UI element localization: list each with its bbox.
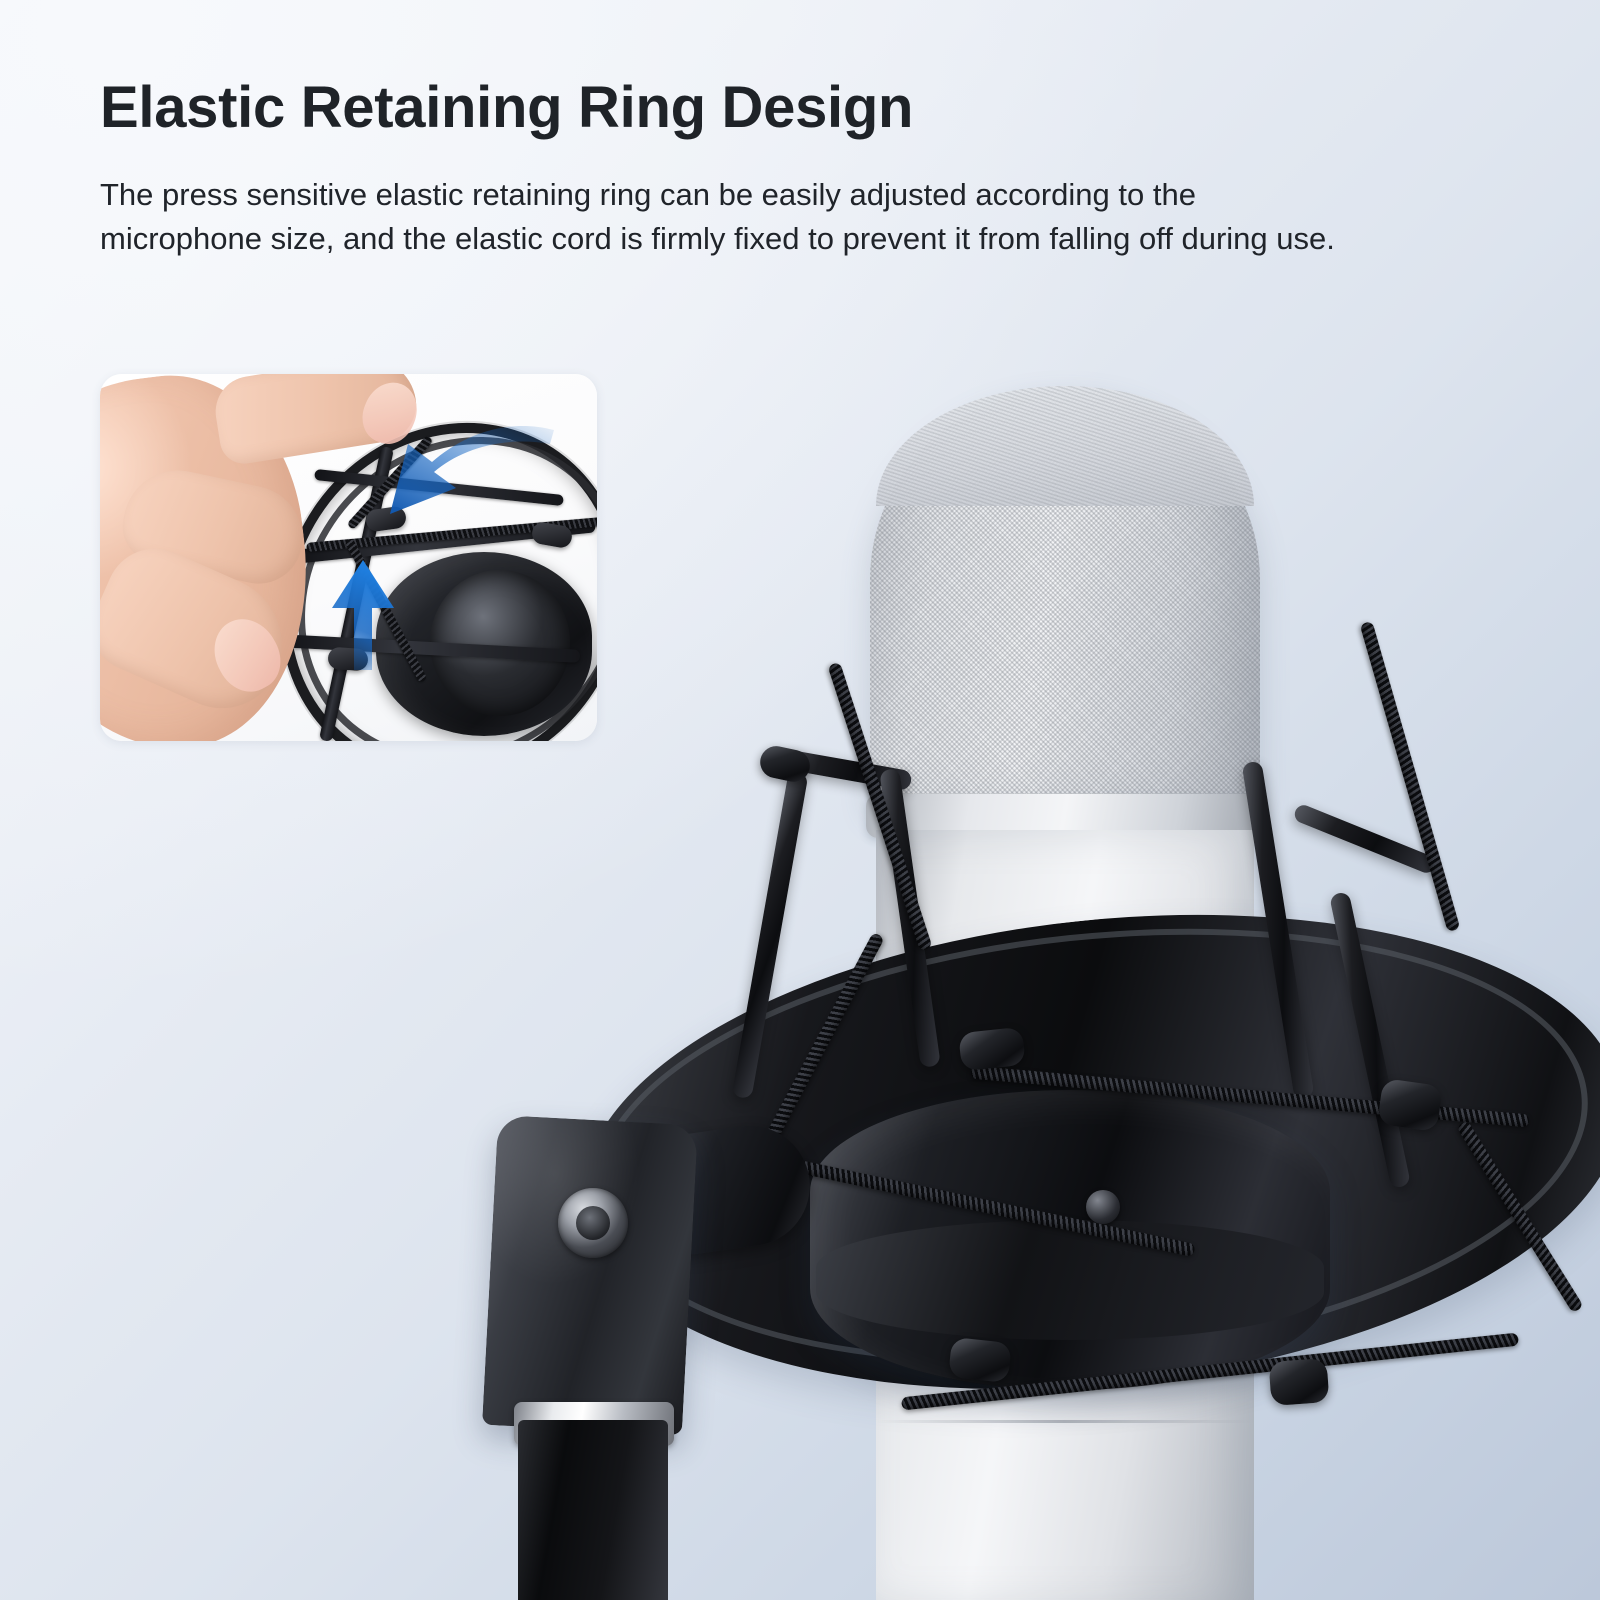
arrow-up-left-icon	[318, 550, 408, 670]
mic-stand-pole	[518, 1420, 668, 1600]
cord-clip	[1269, 1358, 1330, 1406]
mic-grille-top	[876, 386, 1254, 506]
stand-mount-block: NEEWER MSA03	[482, 1115, 698, 1435]
collar-release-button[interactable]	[1086, 1190, 1120, 1224]
copy-block: Elastic Retaining Ring Design The press …	[100, 78, 1370, 261]
elastic-cord-upper-right	[1360, 621, 1461, 932]
feature-title: Elastic Retaining Ring Design	[100, 78, 1370, 137]
cord-clip	[948, 1337, 1012, 1383]
tilt-adjust-screw-center	[576, 1206, 610, 1240]
mic-body-seam	[876, 1420, 1254, 1423]
mic-collar-band	[816, 1220, 1324, 1340]
product-render: NEEWER MSA03	[430, 330, 1600, 1600]
cord-clip	[1377, 1078, 1443, 1132]
feature-description: The press sensitive elastic retaining ri…	[100, 173, 1362, 261]
feature-image-canvas: Elastic Retaining Ring Design The press …	[0, 0, 1600, 1600]
